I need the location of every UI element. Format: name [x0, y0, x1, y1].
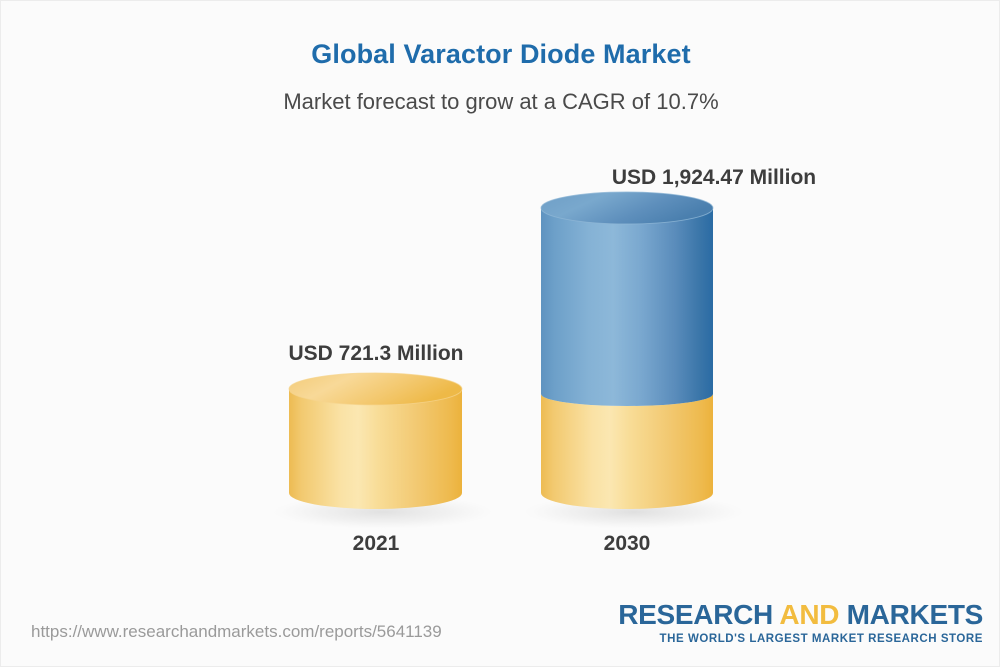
- bar-cylinder-2030[interactable]: [524, 192, 744, 529]
- bar-2021-body: [289, 389, 462, 509]
- logo-word-markets: MARKETS: [839, 599, 983, 630]
- bar-2030-upper-segment: [541, 208, 713, 406]
- bar-2030-lower-segment: [541, 394, 713, 509]
- research-and-markets-logo[interactable]: RESEARCH AND MARKETS THE WORLD'S LARGEST…: [618, 601, 983, 646]
- cylinder-bar-chart: [1, 1, 1000, 601]
- logo-wordmark: RESEARCH AND MARKETS: [618, 601, 983, 629]
- source-url-link[interactable]: https://www.researchandmarkets.com/repor…: [31, 622, 442, 642]
- logo-word-and: AND: [779, 599, 839, 630]
- category-label-2021: 2021: [276, 532, 476, 556]
- logo-word-research: RESEARCH: [618, 599, 779, 630]
- value-label-2021: USD 721.3 Million: [276, 342, 476, 366]
- value-label-2030: USD 1,924.47 Million: [504, 166, 924, 190]
- infographic-chart-page: Global Varactor Diode Market Market fore…: [0, 0, 1000, 667]
- category-label-2030: 2030: [527, 532, 727, 556]
- logo-tagline: THE WORLD'S LARGEST MARKET RESEARCH STOR…: [618, 634, 983, 646]
- bar-cylinder-2021[interactable]: [273, 373, 493, 529]
